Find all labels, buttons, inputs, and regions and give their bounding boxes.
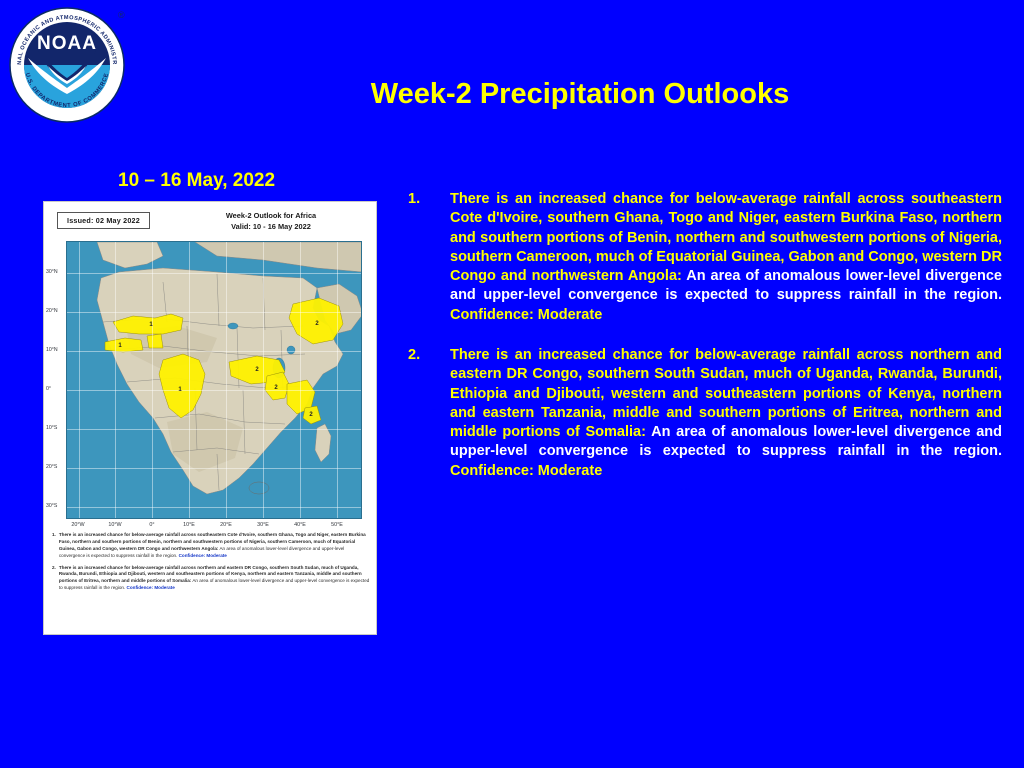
lon-tick-label: 40°E (294, 522, 306, 528)
svg-text:®: ® (118, 10, 125, 20)
map-caption-number: 1. (52, 532, 56, 560)
map-caption-text: There is an increased chance for below-a… (59, 565, 370, 593)
lat-tick-label: 0° (46, 386, 51, 392)
africa-map-graphic (67, 242, 362, 519)
lon-tick-label: 10°W (108, 522, 121, 528)
page-title: Week-2 Precipitation Outlooks (200, 78, 960, 111)
noaa-logo: NOAA NATIONAL OCEANIC AND ATMOSPHERIC AD… (4, 2, 130, 128)
region-marker: 2 (315, 321, 318, 327)
lon-tick-label: 20°E (220, 522, 232, 528)
map-title-line1: Week-2 Outlook for Africa (164, 211, 377, 222)
bullet-text: There is an increased chance for below-a… (450, 346, 1002, 481)
lon-tick-label: 10°E (183, 522, 195, 528)
bullet-text: There is an increased chance for below-a… (450, 190, 1002, 325)
map-caption-text: There is an increased chance for below-a… (59, 532, 370, 560)
outlook-bullet: 2. There is an increased chance for belo… (408, 346, 1002, 481)
lon-tick-label: 20°W (71, 522, 84, 528)
region-marker: 1 (118, 343, 121, 349)
region-marker: 1 (178, 387, 181, 393)
bullet-number: 2. (408, 346, 450, 481)
date-subtitle: 10 – 16 May, 2022 (118, 170, 275, 192)
region-marker: 2 (255, 367, 258, 373)
lat-tick-label: 20°S (46, 464, 57, 470)
svg-text:NOAA: NOAA (37, 33, 97, 54)
region-marker: 2 (309, 412, 312, 418)
region-marker: 1 (149, 322, 152, 328)
outlook-bullet-list: 1. There is an increased chance for belo… (408, 190, 1002, 502)
lat-tick-label: 10°N (46, 347, 58, 353)
bullet-confidence: Confidence: Moderate (450, 463, 602, 479)
map-caption-item: 2. There is an increased chance for belo… (52, 565, 370, 593)
outlook-bullet: 1. There is an increased chance for belo… (408, 190, 1002, 325)
slide-canvas: NOAA NATIONAL OCEANIC AND ATMOSPHERIC AD… (0, 0, 1024, 768)
bullet-number: 1. (408, 190, 450, 325)
map-plot-area: 1 1 1 2 2 2 2 (66, 241, 362, 519)
map-title-line2: Valid: 10 - 16 May 2022 (164, 222, 377, 233)
region-marker: 2 (274, 385, 277, 391)
bullet-confidence: Confidence: Moderate (450, 307, 602, 323)
outlook-map-image: Issued: 02 May 2022 Week-2 Outlook for A… (43, 201, 377, 635)
lat-tick-label: 20°N (46, 308, 58, 314)
lat-tick-label: 30°S (46, 503, 57, 509)
map-caption: 1. There is an increased chance for belo… (52, 532, 370, 597)
lon-tick-label: 50°E (331, 522, 343, 528)
lon-tick-label: 0° (149, 522, 154, 528)
lat-tick-label: 10°S (46, 425, 57, 431)
map-caption-item: 1. There is an increased chance for belo… (52, 532, 370, 560)
lat-tick-label: 30°N (46, 269, 58, 275)
lon-tick-label: 30°E (257, 522, 269, 528)
map-caption-number: 2. (52, 565, 56, 593)
map-caption-confidence: Confidence: Moderate (127, 585, 175, 590)
map-title: Week-2 Outlook for Africa Valid: 10 - 16… (44, 211, 377, 232)
map-caption-confidence: Confidence: Moderate (179, 553, 227, 558)
